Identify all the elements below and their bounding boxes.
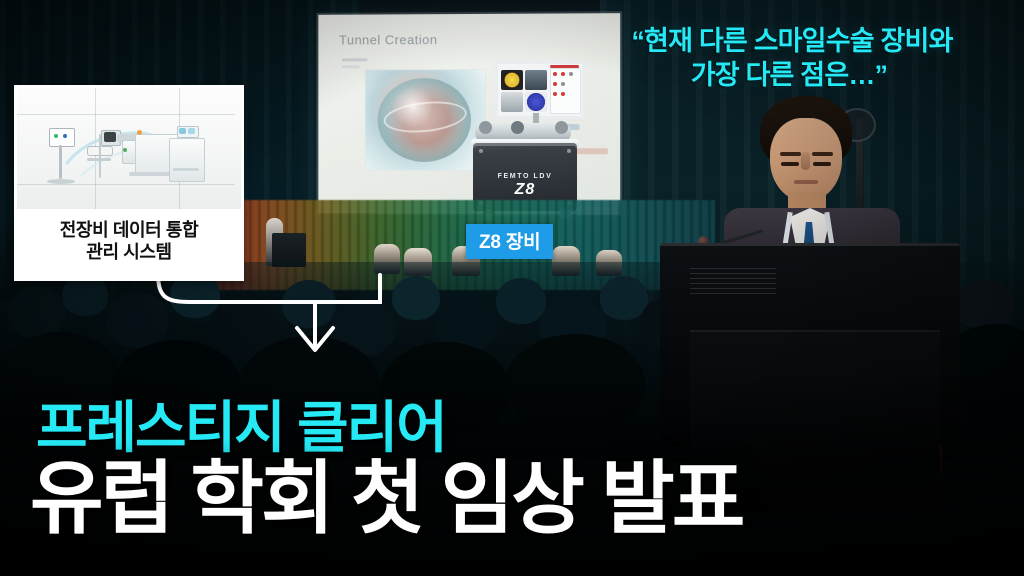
inset-led-green — [54, 134, 58, 138]
quote-overlay: “현재 다른 스마일수술 장비와 가장 다른 점은…” — [566, 24, 1018, 92]
inset-cart-pole — [99, 134, 101, 178]
keynote-speaker — [718, 96, 908, 266]
inset-device-3 — [169, 138, 205, 182]
slide-title: Tunnel Creation — [339, 32, 438, 47]
inset-screen-3-b — [188, 128, 195, 134]
monitor-panel-a — [501, 92, 523, 112]
speaker-nose — [801, 152, 810, 170]
speaker-eye-left — [781, 162, 799, 166]
slide-eye-diagram — [365, 69, 486, 171]
inset-stand-base — [47, 179, 75, 184]
inset-node-orange — [137, 130, 142, 135]
inset-monitor-2-screen — [104, 132, 116, 142]
speaker-eye-right — [813, 162, 831, 166]
monitor-ind-6 — [553, 92, 557, 96]
device-screw-tl — [479, 149, 483, 153]
device-arm-joint-right — [555, 121, 568, 134]
inset-callout-card: 전장비 데이터 통합 관리 시스템 — [14, 85, 244, 281]
monitor-ind-4 — [553, 82, 557, 86]
monitor-panel-b — [525, 92, 547, 112]
quote-line-1: “현재 다른 스마일수술 장비와 — [566, 24, 1018, 58]
inset-led-blue — [63, 134, 67, 138]
monitor-ind-5 — [561, 82, 565, 86]
inset-caption-line1: 전장비 데이터 통합 — [60, 220, 198, 242]
inset-device-3-line — [173, 168, 199, 171]
monitor-ind-2 — [561, 72, 565, 76]
speaker-brow-right — [812, 152, 833, 156]
inset-stand-pole — [59, 145, 62, 179]
monitor-gauge — [501, 70, 523, 90]
inset-node-green — [123, 148, 127, 152]
audience-head — [496, 278, 546, 324]
monitor-camera-view — [525, 70, 547, 90]
inset-screen-3-a — [179, 128, 186, 134]
device-screw-tr — [567, 149, 571, 153]
inset-illustration — [17, 88, 241, 209]
slide-label-1 — [342, 58, 368, 61]
headline-line-1: 프레스티지 클리어 — [36, 400, 1024, 456]
thumbnail-canvas: Tunnel Creation ZIEMER OPHTHALMIC SYSTEM… — [0, 0, 1024, 576]
inset-caption-line2: 관리 시스템 — [86, 242, 171, 264]
audience-head — [8, 286, 66, 338]
podium-vents — [690, 268, 776, 294]
audience-head — [956, 280, 1014, 330]
inset-caption: 전장비 데이터 통합 관리 시스템 — [17, 209, 241, 275]
monitor-ind-1 — [553, 72, 557, 76]
device-brand-text: FEMTO LDV — [469, 173, 581, 180]
headline-overlay: 프레스티지 클리어 유럽 학회 첫 임상 발표 — [0, 400, 1024, 540]
device-arm-joint-left — [479, 121, 492, 134]
z8-device-label: Z8 장비 — [466, 224, 553, 259]
device-model-text: Z8 — [469, 181, 581, 199]
device-arm-joint-mid — [511, 121, 524, 134]
speaker-mouth — [794, 180, 818, 184]
slide-label-2 — [342, 65, 360, 68]
inset-monitor-1 — [49, 128, 75, 147]
monitor-ind-7 — [561, 92, 565, 96]
speaker-brow-left — [780, 152, 801, 156]
callout-connector-arrow — [150, 270, 410, 360]
quote-line-2: 가장 다른 점은…” — [566, 58, 1018, 92]
headline-line-2: 유럽 학회 첫 임상 발표 — [30, 458, 1024, 540]
